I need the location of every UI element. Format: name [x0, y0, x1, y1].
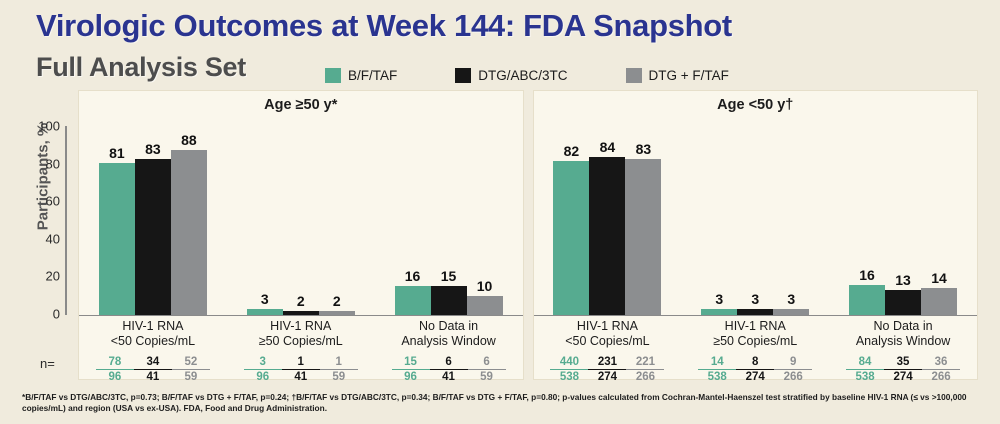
bar-value-label: 2: [319, 293, 355, 309]
bar: [885, 290, 921, 314]
legend-label: DTG + F/TAF: [649, 68, 729, 83]
legend-item: DTG/ABC/3TC: [455, 68, 567, 83]
x-axis-line: [79, 315, 523, 317]
chart-panels: Age ≥50 y*818388322161510HIV-1 RNA<50 Co…: [78, 90, 978, 380]
category-label-line: Analysis Window: [829, 334, 977, 349]
bar-value-label: 3: [773, 291, 809, 307]
bar-slot: 16: [395, 127, 431, 315]
n-numerator: 221: [626, 356, 664, 370]
category-label-line: Analysis Window: [375, 334, 523, 349]
n-numerator: 15: [392, 356, 430, 370]
bar-slot: 16: [849, 127, 885, 315]
n-denominator: 266: [626, 370, 664, 383]
bar: [395, 286, 431, 314]
n-denominator: 266: [774, 370, 812, 383]
n-fraction: 641: [430, 356, 468, 383]
bar-slot: 83: [135, 127, 171, 315]
bar-group: 161314: [829, 127, 977, 315]
bar-groups: 818388322161510: [79, 127, 523, 315]
bar: [849, 285, 885, 315]
bar-slot: 3: [773, 127, 809, 315]
bar-value-label: 16: [395, 268, 431, 284]
slide: Virologic Outcomes at Week 144: FDA Snap…: [0, 0, 1000, 424]
n-numerator: 1: [320, 356, 358, 370]
n-denominator: 538: [698, 370, 736, 383]
y-axis-tick-label: 80: [46, 156, 60, 171]
bar-value-label: 88: [171, 132, 207, 148]
bar-slot: 3: [737, 127, 773, 315]
category-label: HIV-1 RNA<50 Copies/mL: [79, 319, 227, 349]
category-label-line: No Data in: [375, 319, 523, 334]
bar-value-label: 83: [625, 141, 661, 157]
n-denominator: 274: [736, 370, 774, 383]
n-value-group: 440538231274221266: [534, 356, 682, 383]
bar-group: 818388: [79, 127, 227, 315]
bar-value-label: 15: [431, 268, 467, 284]
x-axis-line: [534, 315, 978, 317]
n-denominator: 59: [320, 370, 358, 383]
bar-value-label: 10: [467, 278, 503, 294]
n-numerator: 8: [736, 356, 774, 370]
bar-group: 161510: [375, 127, 523, 315]
n-numerator: 3: [244, 356, 282, 370]
n-denominator: 59: [172, 370, 210, 383]
n-fraction: 231274: [588, 356, 626, 383]
n-numerator: 35: [884, 356, 922, 370]
legend-swatch-icon: [455, 68, 471, 83]
n-row-label: n=: [40, 356, 55, 371]
n-fraction: 1596: [392, 356, 430, 383]
bar-group: 828483: [534, 127, 682, 315]
bar-slot: 15: [431, 127, 467, 315]
bar-slot: 84: [589, 127, 625, 315]
bar-groups: 828483333161314: [534, 127, 978, 315]
n-numerator: 34: [134, 356, 172, 370]
panel-title: Age <50 y†: [534, 97, 978, 113]
category-label-line: HIV-1 RNA: [227, 319, 375, 334]
n-fraction: 5259: [172, 356, 210, 383]
n-fraction: 84538: [846, 356, 884, 383]
page-subtitle: Full Analysis Set: [36, 52, 246, 83]
chart-panel: Age ≥50 y*818388322161510HIV-1 RNA<50 Co…: [78, 90, 524, 380]
category-label: HIV-1 RNA<50 Copies/mL: [534, 319, 682, 349]
n-numerator: 231: [588, 356, 626, 370]
n-denominator: 59: [468, 370, 506, 383]
n-numerator: 6: [430, 356, 468, 370]
category-labels: HIV-1 RNA<50 Copies/mLHIV-1 RNA≥50 Copie…: [79, 319, 523, 349]
bar: [921, 288, 957, 314]
bar: [625, 159, 661, 315]
n-denominator: 96: [392, 370, 430, 383]
bar-slot: 3: [247, 127, 283, 315]
n-denominator: 41: [282, 370, 320, 383]
n-numerator: 84: [846, 356, 884, 370]
bar-value-label: 14: [921, 270, 957, 286]
n-denominator: 274: [884, 370, 922, 383]
bar-value-label: 13: [885, 272, 921, 288]
y-axis-line: [65, 126, 67, 315]
category-label: HIV-1 RNA≥50 Copies/mL: [227, 319, 375, 349]
n-values-row: 4405382312742212661453882749266845383527…: [534, 356, 978, 383]
category-label-line: HIV-1 RNA: [681, 319, 829, 334]
category-labels: HIV-1 RNA<50 Copies/mLHIV-1 RNA≥50 Copie…: [534, 319, 978, 349]
chart-legend: B/F/TAFDTG/ABC/3TCDTG + F/TAF: [325, 68, 787, 83]
n-value-group: 396141159: [227, 356, 375, 383]
n-numerator: 440: [550, 356, 588, 370]
y-axis-tick-label: 100: [38, 119, 60, 134]
legend-item: B/F/TAF: [325, 68, 397, 83]
bar: [589, 157, 625, 315]
n-fraction: 9266: [774, 356, 812, 383]
bar-slot: 88: [171, 127, 207, 315]
category-label-line: HIV-1 RNA: [79, 319, 227, 334]
category-label-line: <50 Copies/mL: [534, 334, 682, 349]
n-denominator: 96: [244, 370, 282, 383]
bar-slot: 3: [701, 127, 737, 315]
n-denominator: 538: [550, 370, 588, 383]
bar-value-label: 83: [135, 141, 171, 157]
category-label-line: ≥50 Copies/mL: [681, 334, 829, 349]
page-title: Virologic Outcomes at Week 144: FDA Snap…: [36, 8, 732, 44]
bar-slot: 2: [319, 127, 355, 315]
bar-value-label: 3: [247, 291, 283, 307]
n-denominator: 41: [430, 370, 468, 383]
bar-value-label: 2: [283, 293, 319, 309]
bar-value-label: 3: [737, 291, 773, 307]
n-numerator: 1: [282, 356, 320, 370]
y-axis-tick-label: 60: [46, 194, 60, 209]
n-fraction: 3441: [134, 356, 172, 383]
bar-slot: 81: [99, 127, 135, 315]
y-axis-tick-label: 0: [53, 307, 60, 322]
n-value-group: 1453882749266: [681, 356, 829, 383]
bar-value-label: 3: [701, 291, 737, 307]
category-label-line: No Data in: [829, 319, 977, 334]
bar: [467, 296, 503, 315]
n-denominator: 96: [96, 370, 134, 383]
legend-swatch-icon: [626, 68, 642, 83]
n-fraction: 35274: [884, 356, 922, 383]
chart-panel: Age <50 y†828483333161314HIV-1 RNA<50 Co…: [533, 90, 979, 380]
plot-area: 828483333161314: [534, 127, 978, 316]
legend-item: DTG + F/TAF: [626, 68, 729, 83]
n-fraction: 440538: [550, 356, 588, 383]
bar-value-label: 82: [553, 143, 589, 159]
bar: [171, 150, 207, 315]
y-axis-tick-label: 40: [46, 231, 60, 246]
panel-title: Age ≥50 y*: [79, 97, 523, 113]
n-fraction: 396: [244, 356, 282, 383]
n-value-group: 845383527436266: [829, 356, 977, 383]
n-numerator: 14: [698, 356, 736, 370]
n-denominator: 274: [588, 370, 626, 383]
n-fraction: 8274: [736, 356, 774, 383]
bar-slot: 10: [467, 127, 503, 315]
n-numerator: 36: [922, 356, 960, 370]
legend-swatch-icon: [325, 68, 341, 83]
category-label-line: <50 Copies/mL: [79, 334, 227, 349]
bar-value-label: 16: [849, 267, 885, 283]
legend-label: DTG/ABC/3TC: [478, 68, 567, 83]
plot-area: 818388322161510: [79, 127, 523, 316]
n-fraction: 221266: [626, 356, 664, 383]
category-label-line: ≥50 Copies/mL: [227, 334, 375, 349]
n-fraction: 159: [320, 356, 358, 383]
n-fraction: 36266: [922, 356, 960, 383]
legend-label: B/F/TAF: [348, 68, 397, 83]
n-values-row: 7896344152593961411591596641659: [79, 356, 523, 383]
n-denominator: 538: [846, 370, 884, 383]
n-fraction: 14538: [698, 356, 736, 383]
bar-group: 333: [681, 127, 829, 315]
bar-value-label: 81: [99, 145, 135, 161]
n-denominator: 41: [134, 370, 172, 383]
n-numerator: 6: [468, 356, 506, 370]
bar-slot: 2: [283, 127, 319, 315]
bar: [431, 286, 467, 314]
y-axis-ticks: 100806040200: [22, 126, 60, 314]
category-label: No Data inAnalysis Window: [375, 319, 523, 349]
n-value-group: 789634415259: [79, 356, 227, 383]
bar-slot: 82: [553, 127, 589, 315]
bar: [553, 161, 589, 315]
n-numerator: 78: [96, 356, 134, 370]
bar-slot: 14: [921, 127, 957, 315]
category-label: HIV-1 RNA≥50 Copies/mL: [681, 319, 829, 349]
n-fraction: 141: [282, 356, 320, 383]
bar-value-label: 84: [589, 139, 625, 155]
n-numerator: 9: [774, 356, 812, 370]
n-denominator: 266: [922, 370, 960, 383]
bar-group: 322: [227, 127, 375, 315]
category-label-line: HIV-1 RNA: [534, 319, 682, 334]
bar: [135, 159, 171, 315]
category-label: No Data inAnalysis Window: [829, 319, 977, 349]
bar: [99, 163, 135, 315]
y-axis-tick-label: 20: [46, 269, 60, 284]
footnote: *B/F/TAF vs DTG/ABC/3TC, p=0.73; B/F/TAF…: [22, 392, 986, 413]
n-value-group: 1596641659: [375, 356, 523, 383]
n-fraction: 7896: [96, 356, 134, 383]
bar-slot: 83: [625, 127, 661, 315]
bar-slot: 13: [885, 127, 921, 315]
n-numerator: 52: [172, 356, 210, 370]
n-fraction: 659: [468, 356, 506, 383]
